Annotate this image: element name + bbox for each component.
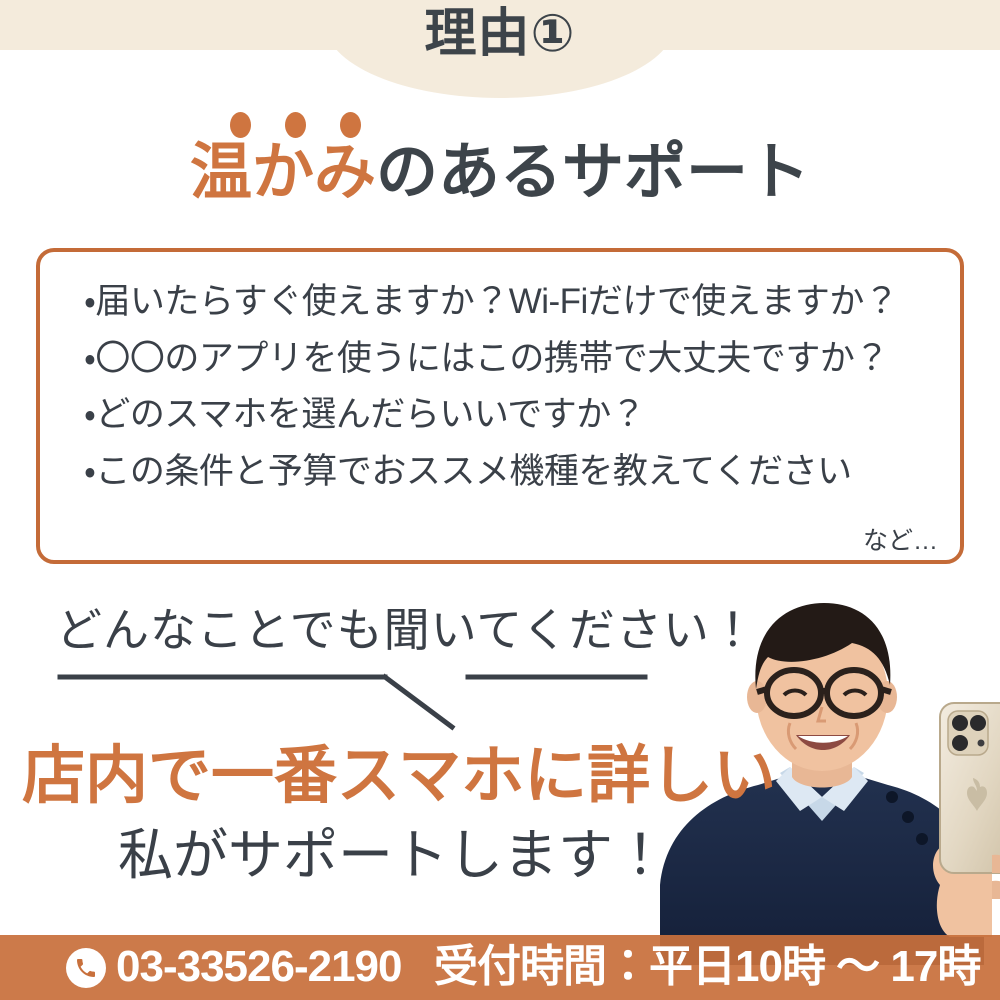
list-item: ・〇〇のアプリを使うにはこの携帯で大丈夫ですか？ [84,331,944,388]
phone-number[interactable]: 03-33526-2190 [116,934,401,999]
etc-label: など… [863,529,938,554]
emphasis-dot [285,112,306,138]
question-box: ・届いたらすぐ使えますか？Wi-Fiだけで使えますか？ ・〇〇のアプリを使うには… [36,248,964,564]
question-list: ・届いたらすぐ使えますか？Wi-Fiだけで使えますか？ ・〇〇のアプリを使うには… [84,274,944,501]
subtitle-highlight: 温かみ [190,138,376,207]
subtitle: 温かみのあるサポート [0,140,1000,205]
headline-primary: 店内で一番スマホに詳しい [22,745,776,808]
list-item: ・届いたらすぐ使えますか？Wi-Fiだけで使えますか？ [84,274,944,331]
speech-pointer-underline [40,665,660,740]
list-item: ・この条件と予算でおススメ機種を教えてください [84,444,944,501]
phone-icon-glyph [74,956,98,980]
subtitle-rest: のあるサポート [376,138,810,207]
phone-icon [66,948,106,988]
ask-anything-text: どんなことでも聞いてください！ [56,602,757,660]
business-hours: 受付時間：平日10時 ～ 17時 [434,934,980,999]
emphasis-dot [230,112,251,138]
emphasis-dot [340,112,361,138]
headline-secondary: 私がサポートします！ [118,828,668,883]
list-item: ・どのスマホを選んだらいいですか？ [84,387,944,444]
poster-root: 理由① 温かみのあるサポート ・届いたらすぐ使えますか？Wi-Fiだけで使えます… [0,0,1000,1000]
banner-title: 理由① [0,8,1000,60]
emphasis-dots [222,112,402,138]
